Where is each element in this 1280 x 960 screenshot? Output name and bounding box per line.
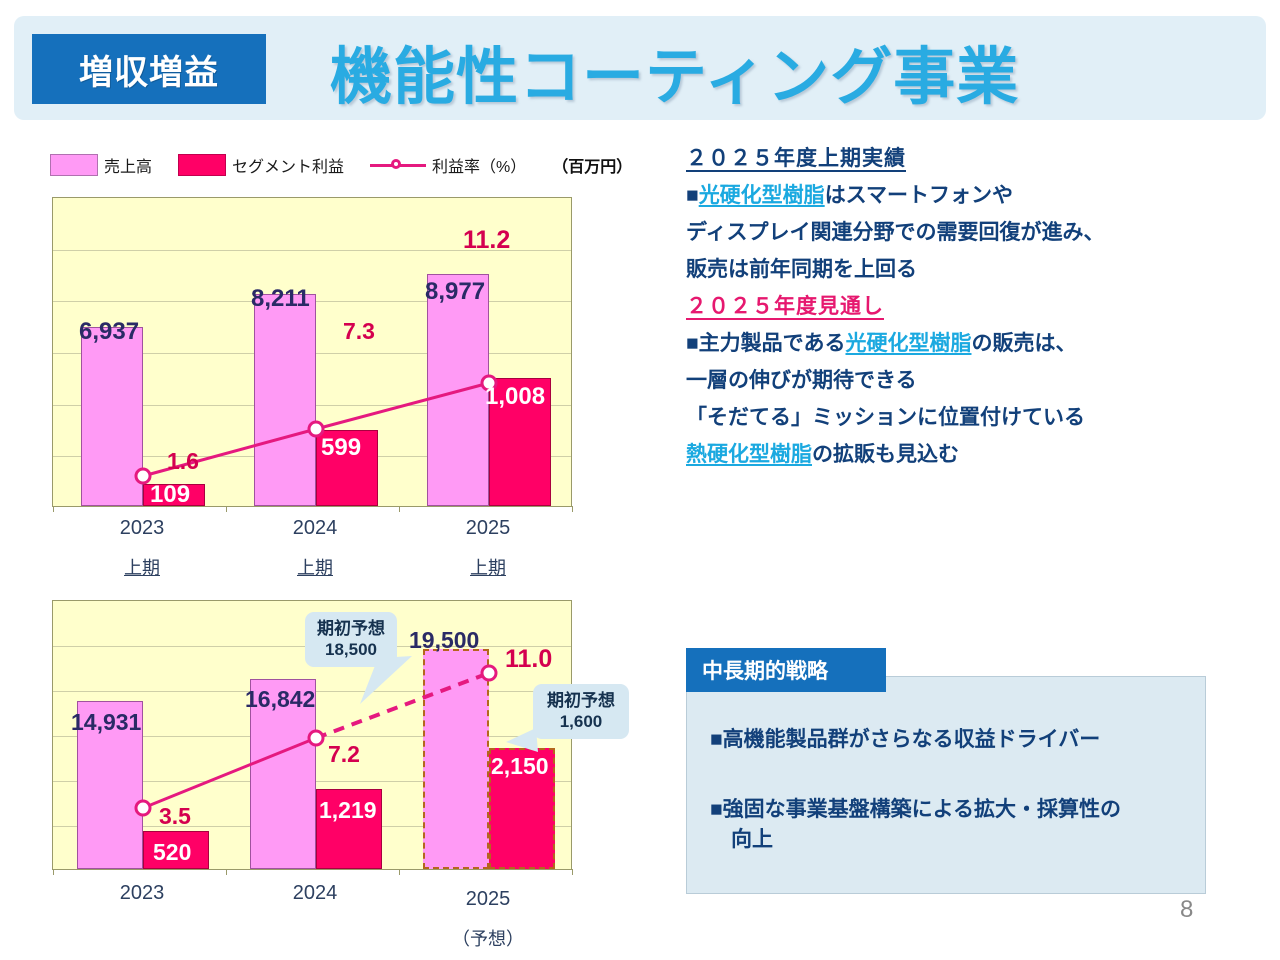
keyword-photocurable-resin-2: 光硬化型樹脂	[845, 332, 971, 355]
xsub-top-2023: 上期	[80, 554, 204, 580]
legend-label-profit: セグメント利益	[232, 153, 344, 177]
page-number: 8	[1180, 896, 1193, 924]
legend-label-rate: 利益率（%）	[432, 153, 526, 177]
bar-sales-2023	[81, 327, 143, 506]
outlook-bullet-1: ■主力製品である光硬化型樹脂の販売は、	[686, 333, 1266, 354]
label-profit-2023: 109	[150, 481, 190, 509]
xlabel-top-2023: 2023	[80, 517, 204, 540]
chart-half-year-results: 6,937 8,211 8,977 109 599 1,008 1.6 7.3 …	[52, 197, 572, 507]
label-sales-fy2023: 14,931	[71, 709, 141, 736]
label-rate-fy2024: 7.2	[328, 741, 360, 768]
legend-label-sales: 売上高	[104, 153, 152, 177]
xlabel-top-2025: 2025	[426, 517, 550, 540]
strategy-item-2: ■強固な事業基盤構築による拡大・採算性の	[710, 796, 1200, 824]
label-sales-2024: 8,211	[251, 285, 310, 313]
strategy-box	[686, 676, 1206, 894]
label-rate-2025: 11.2	[463, 226, 510, 255]
label-rate-fy2025: 11.0	[505, 645, 552, 674]
keyword-thermosetting-resin: 熱硬化型樹脂	[686, 443, 812, 466]
label-rate-2023: 1.6	[167, 448, 199, 475]
label-profit-2024: 599	[321, 434, 361, 462]
chart-legend: 売上高 セグメント利益 利益率（%） （百万円）	[50, 150, 650, 180]
header-badge: 増収増益	[32, 34, 266, 104]
xlabel-bottom-2024: 2024	[249, 882, 381, 905]
outlook-bullet-1-post: の販売は、	[971, 332, 1076, 355]
header-badge-label: 増収増益	[79, 45, 219, 94]
callout-profit-tail-icon	[470, 680, 650, 810]
label-profit-fy2023: 520	[153, 839, 191, 866]
bullet-square-icon: ■	[686, 184, 699, 207]
heading-results: ２０２５年度上期実績	[686, 148, 1266, 169]
xlabel-bottom-2023: 2023	[76, 882, 208, 905]
label-rate-2024: 7.3	[343, 318, 375, 345]
outlook-line-4: 熱硬化型樹脂の拡販も見込む	[686, 444, 1266, 465]
label-profit-2025: 1,008	[485, 383, 545, 411]
outlook-line-4-post: の拡販も見込む	[812, 443, 959, 466]
strategy-heading: 中長期的戦略	[686, 648, 886, 692]
outlook-line-2: 一層の伸びが期待できる	[686, 370, 1266, 391]
strategy-item-3: 向上	[710, 826, 1200, 854]
xlabel-bottom-2025: 2025	[422, 888, 554, 911]
plot-area-top: 6,937 8,211 8,977 109 599 1,008 1.6 7.3 …	[52, 197, 572, 507]
callout-sales-tail-icon	[300, 600, 480, 730]
xsub-top-2025: 上期	[426, 554, 550, 580]
xlabel-top-2024: 2024	[253, 517, 377, 540]
bar-sales-2025	[427, 274, 489, 506]
label-profit-fy2024: 1,219	[319, 797, 377, 824]
xsub-top-2024: 上期	[253, 554, 377, 580]
results-bullet-1: ■光硬化型樹脂はスマートフォンや	[686, 185, 1266, 206]
label-sales-2023: 6,937	[79, 318, 139, 346]
strategy-item-1: ■高機能製品群がさらなる収益ドライバー	[710, 726, 1190, 754]
label-sales-2025: 8,977	[425, 278, 485, 306]
legend-swatch-profit	[178, 154, 226, 176]
legend-unit-label: （百万円）	[552, 153, 632, 177]
label-rate-fy2023: 3.5	[159, 803, 191, 830]
right-text-panel: ２０２５年度上期実績 ■光硬化型樹脂はスマートフォンや ディスプレイ関連分野での…	[686, 148, 1266, 481]
strategy-heading-label: 中長期的戦略	[702, 655, 828, 685]
heading-outlook: ２０２５年度見通し	[686, 296, 1266, 317]
legend-marker-rate-icon	[370, 155, 426, 175]
outlook-bullet-1-pre: ■主力製品である	[686, 332, 845, 355]
page-title: 機能性コーティング事業	[330, 28, 1190, 114]
results-line-2: ディスプレイ関連分野での需要回復が進み、	[686, 222, 1266, 243]
keyword-photocurable-resin-1: 光硬化型樹脂	[699, 184, 825, 207]
results-line-3: 販売は前年同期を上回る	[686, 259, 1266, 280]
bar-sales-2024	[254, 294, 316, 506]
results-bullet-1-post: はスマートフォンや	[825, 184, 1013, 207]
outlook-line-3: 「そだてる」ミッションに位置付けている	[686, 407, 1266, 428]
legend-swatch-sales	[50, 154, 98, 176]
xsub-bottom-2025: （予想）	[422, 925, 554, 951]
